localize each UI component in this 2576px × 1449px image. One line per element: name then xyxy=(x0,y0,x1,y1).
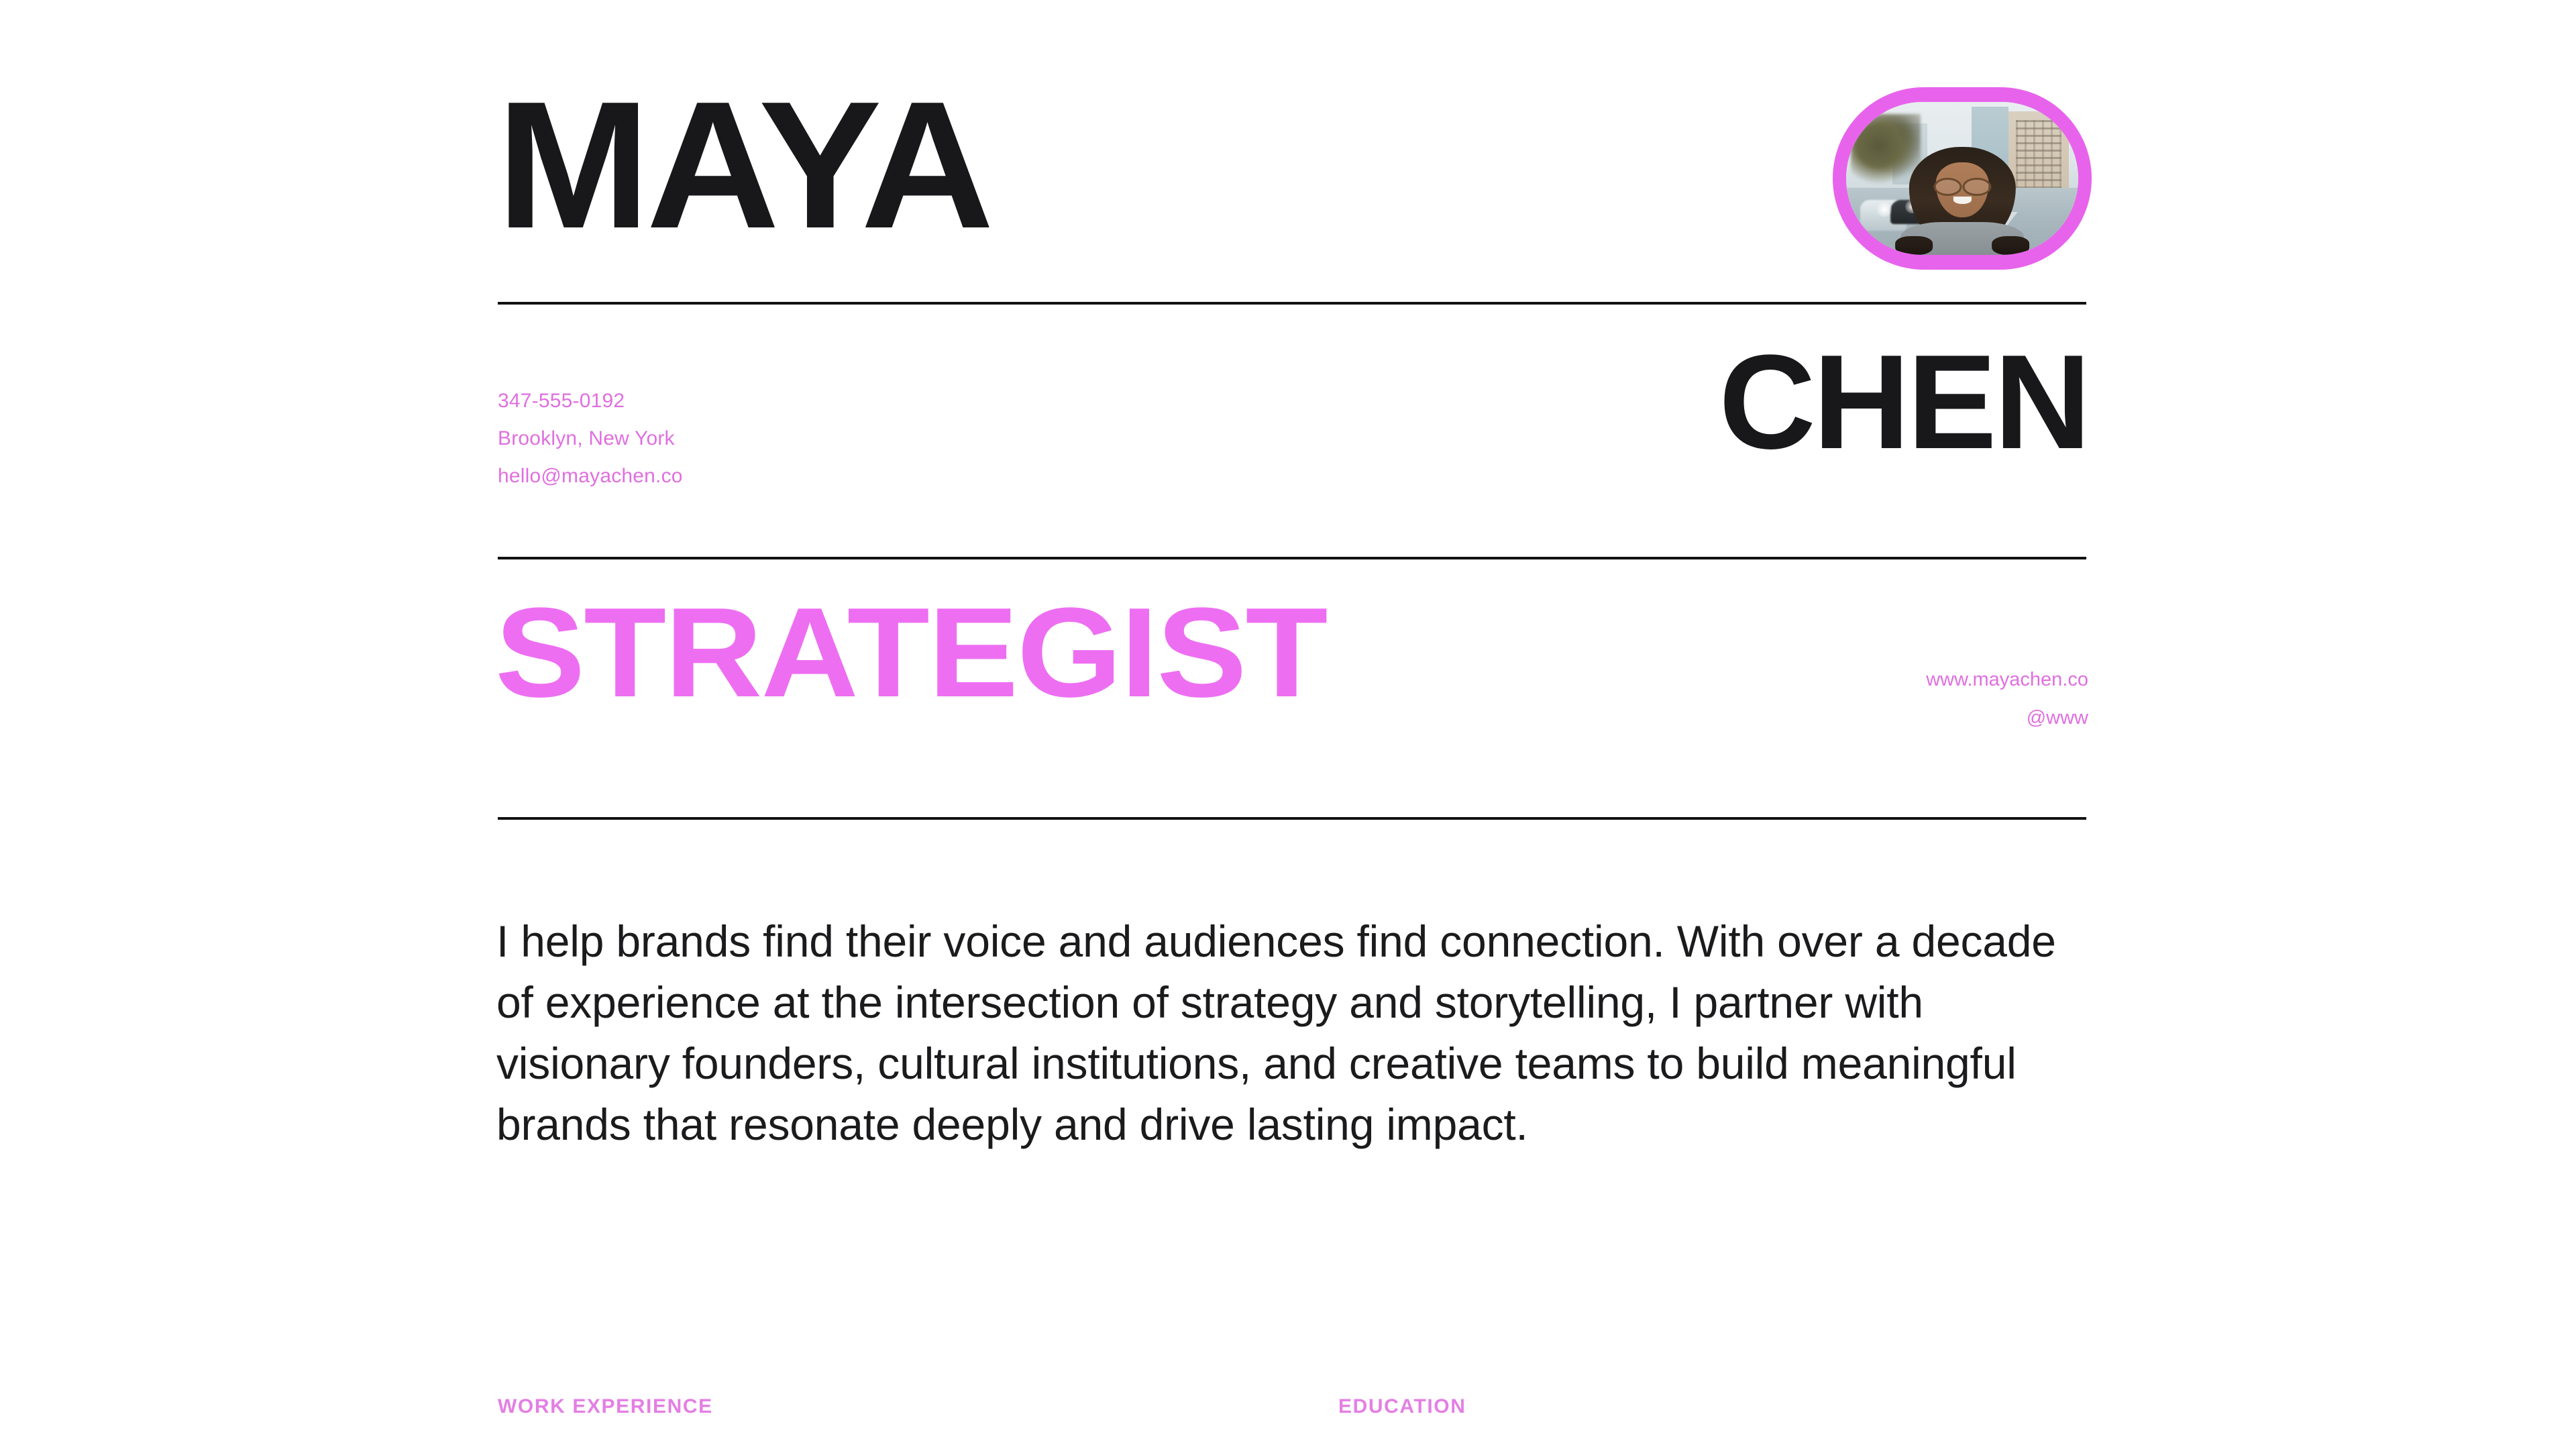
photo-torso xyxy=(1900,222,2025,255)
photo-hair-strand xyxy=(1992,236,2029,255)
resume-page: MAYA xyxy=(0,0,2576,1449)
photo-glasses xyxy=(1933,178,1991,192)
bio-paragraph: I help brands find their voice and audie… xyxy=(496,911,2093,1155)
photo-headlight xyxy=(1876,203,1892,217)
website-link[interactable]: www.mayachen.co xyxy=(1926,661,2088,699)
divider-rule-bottom xyxy=(498,817,2086,820)
section-label-work-experience: WORK EXPERIENCE xyxy=(498,1395,713,1418)
divider-rule-top xyxy=(498,302,2086,305)
divider-rule-middle xyxy=(498,557,2086,559)
contact-email[interactable]: hello@mayachen.co xyxy=(498,458,683,495)
photo-hair-strand xyxy=(1895,236,1932,255)
photo-building-right xyxy=(2008,111,2069,200)
first-name-heading: MAYA xyxy=(496,75,990,256)
profile-photo xyxy=(1846,102,2078,255)
contact-block: 347-555-0192 Brooklyn, New York hello@ma… xyxy=(498,382,683,495)
profile-photo-frame xyxy=(1833,87,2092,270)
contact-location: Brooklyn, New York xyxy=(498,420,683,458)
social-handle[interactable]: @www xyxy=(1926,699,2088,737)
section-label-education: EDUCATION xyxy=(1338,1395,1466,1418)
links-block: www.mayachen.co @www xyxy=(1926,661,2088,737)
role-heading: STRATEGIST xyxy=(495,589,1326,716)
last-name-heading: CHEN xyxy=(1719,335,2088,470)
photo-person xyxy=(1909,145,2015,255)
contact-phone[interactable]: 347-555-0192 xyxy=(498,382,683,420)
